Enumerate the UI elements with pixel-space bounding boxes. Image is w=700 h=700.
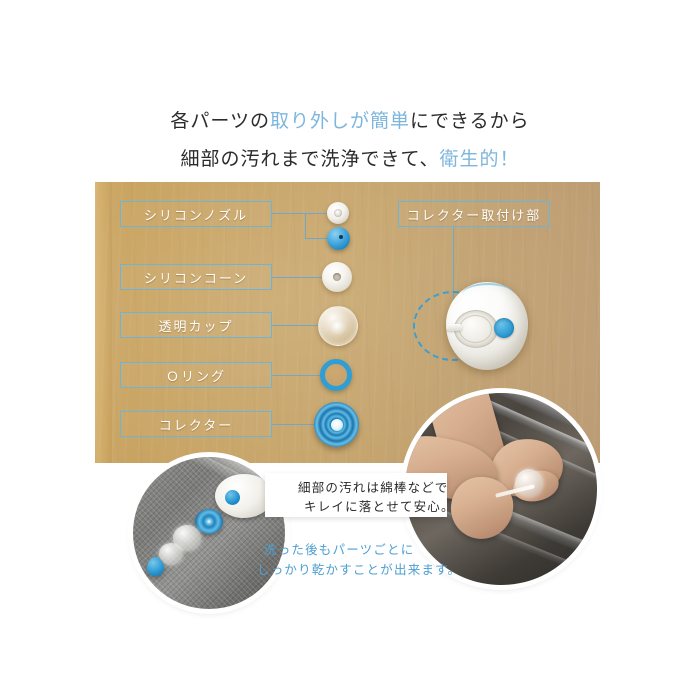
headline-line2-accent: 衛生的！ (440, 148, 520, 170)
label-silicone-cone-text: シリコンコーン (144, 268, 248, 287)
label-collector[interactable]: コレクター (120, 411, 272, 437)
part-silicone-cone (322, 262, 352, 292)
label-o-ring-text: Ｏリング (166, 366, 226, 385)
rack-nozzle-blue (147, 557, 164, 576)
dry-caption-line-1: 洗った後もパーツごとに (264, 540, 414, 560)
connector-nozzle-lower (305, 238, 327, 239)
label-clear-cup-text: 透明カップ (158, 316, 233, 335)
part-o-ring (320, 359, 352, 391)
swab-caption-line-1: 細部の汚れは綿棒などで (298, 478, 448, 498)
headline-line1-accent: 取り外しが簡単 (270, 110, 410, 132)
rack-pump-button (225, 490, 240, 505)
label-silicone-nozzle-text: シリコンノズル (144, 205, 248, 224)
label-clear-cup[interactable]: 透明カップ (120, 312, 272, 338)
drying-rack-photo (133, 457, 285, 609)
pump-stem (446, 324, 462, 331)
part-silicone-nozzle-blue (327, 227, 350, 250)
headline-line2-pre: 細部の汚れまで洗浄できて、 (180, 148, 439, 170)
part-collector-mount-pump-body (446, 282, 528, 370)
part-collector (314, 402, 359, 447)
connector-nozzle-upper (305, 213, 327, 214)
label-collector-mount-text: コレクター取付け部 (407, 205, 541, 224)
connector-cone (272, 277, 322, 278)
dry-caption-line-2: しっかり乾かすことが出来ます。 (257, 560, 461, 580)
connector-nozzle-main (272, 213, 306, 214)
label-silicone-cone[interactable]: シリコンコーン (120, 264, 272, 290)
connector-collector-mount (453, 227, 454, 299)
label-collector-text: コレクター (159, 415, 233, 434)
pump-blue-button (494, 318, 514, 338)
product-infographic: 各パーツの取り外しが簡単にできるから 細部の汚れまで洗浄できて、衛生的！ シリコ… (0, 0, 700, 700)
rack-collector (195, 509, 223, 534)
headline-line-1: 各パーツの取り外しが簡単にできるから (0, 106, 700, 133)
part-being-cleaned (515, 469, 543, 497)
headline-line-2: 細部の汚れまで洗浄できて、衛生的！ (0, 144, 700, 171)
label-silicone-nozzle[interactable]: シリコンノズル (120, 201, 272, 227)
headline-line1-post: にできるから (410, 110, 530, 132)
part-clear-cup (318, 306, 358, 346)
connector-collector (272, 424, 314, 425)
connector-cup (272, 325, 318, 326)
connector-nozzle-drop (305, 213, 306, 239)
connector-oring (272, 375, 320, 376)
board-edge-strip (95, 182, 112, 463)
swab-caption-line-2: キレイに落とせて安心。 (304, 497, 455, 517)
pump-ridge-inner (459, 315, 492, 343)
label-o-ring[interactable]: Ｏリング (120, 362, 272, 388)
headline-line1-pre: 各パーツの (170, 110, 270, 132)
label-collector-mount[interactable]: コレクター取付け部 (398, 201, 550, 227)
part-silicone-nozzle-white (327, 202, 349, 224)
